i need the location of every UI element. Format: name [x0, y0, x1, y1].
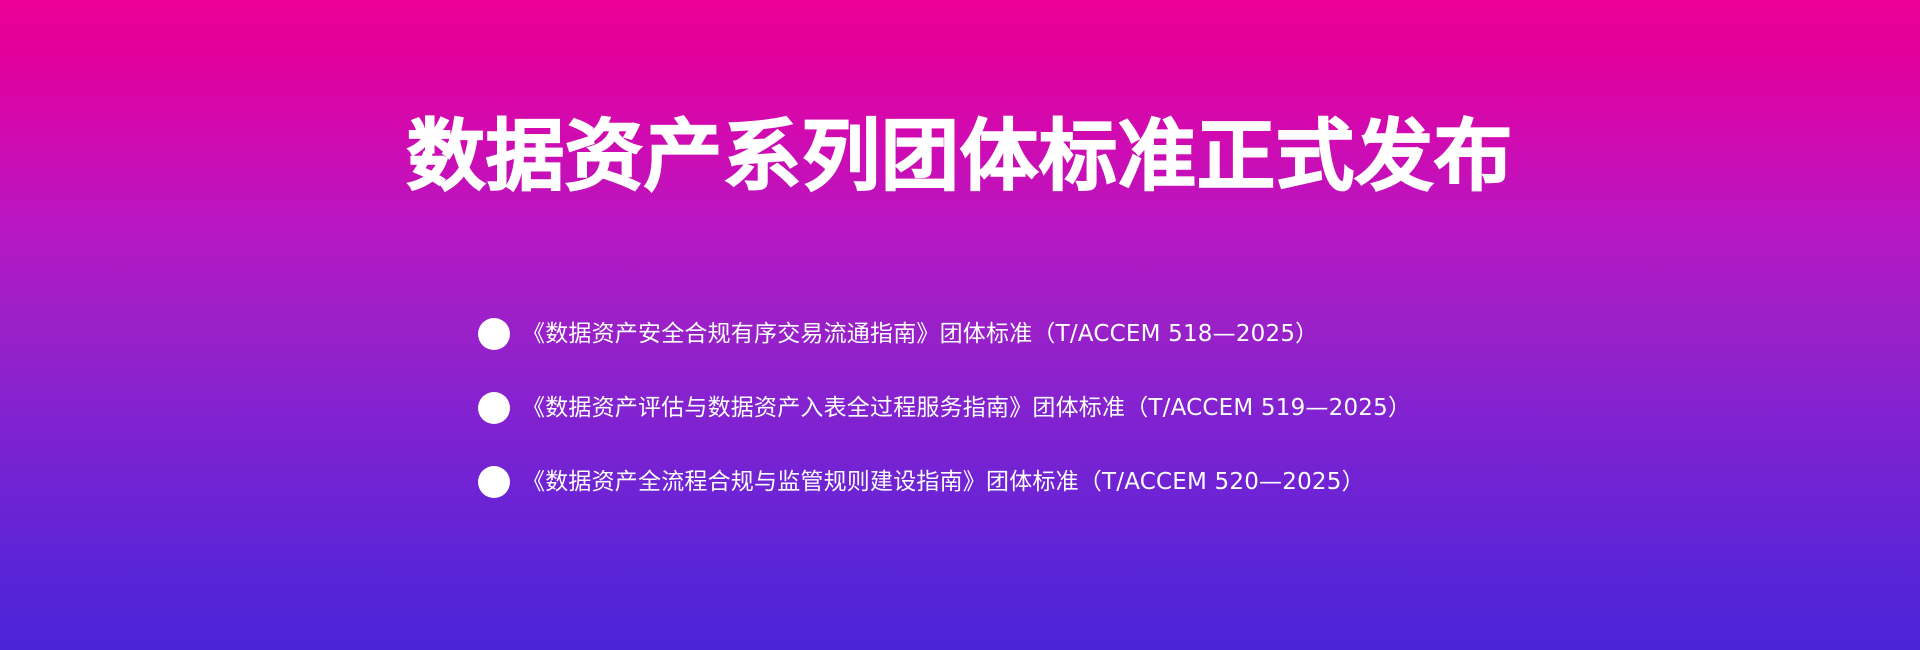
filled-circle-bullet-icon	[478, 392, 510, 424]
list-item-label: 《数据资产全流程合规与监管规则建设指南》团体标准（T/ACCEM 520—202…	[522, 466, 1365, 498]
list-item: 《数据资产安全合规有序交易流通指南》团体标准（T/ACCEM 518—2025）	[478, 308, 1678, 360]
promo-banner: 数据资产系列团体标准正式发布 《数据资产安全合规有序交易流通指南》团体标准（T/…	[0, 0, 1920, 650]
list-item: 《数据资产评估与数据资产入表全过程服务指南》团体标准（T/ACCEM 519—2…	[478, 382, 1678, 434]
filled-circle-bullet-icon	[478, 466, 510, 498]
list-item-label: 《数据资产评估与数据资产入表全过程服务指南》团体标准（T/ACCEM 519—2…	[522, 392, 1411, 424]
filled-circle-bullet-icon	[478, 318, 510, 350]
list-item-label: 《数据资产安全合规有序交易流通指南》团体标准（T/ACCEM 518—2025）	[522, 318, 1318, 350]
list-item: 《数据资产全流程合规与监管规则建设指南》团体标准（T/ACCEM 520—202…	[478, 456, 1678, 508]
page-title: 数据资产系列团体标准正式发布	[0, 113, 1920, 201]
standards-list: 《数据资产安全合规有序交易流通指南》团体标准（T/ACCEM 518—2025）…	[478, 308, 1678, 508]
